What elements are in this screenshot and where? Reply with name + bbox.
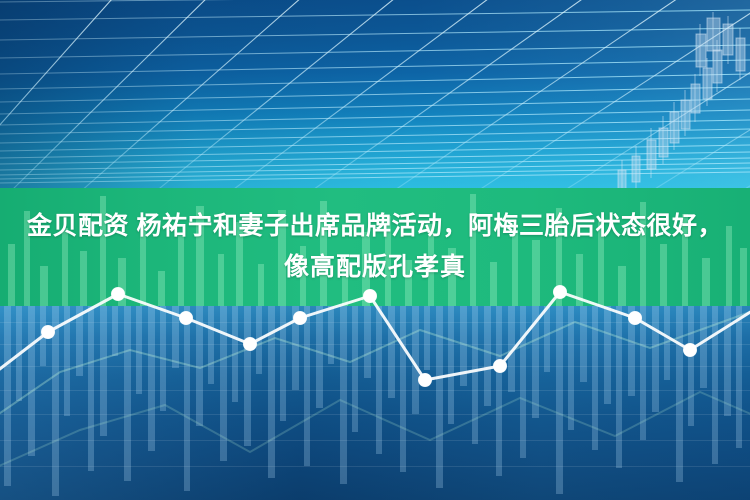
headline-line-1: 金贝配资 杨祐宁和妻子出席品牌活动，阿梅三胎后状态很好， bbox=[27, 206, 723, 247]
financial-banner-image: 金贝配资 杨祐宁和妻子出席品牌活动，阿梅三胎后状态很好， 像高配版孔孝真 bbox=[0, 0, 750, 500]
headline-line-2: 像高配版孔孝真 bbox=[284, 247, 466, 288]
headline-caption: 金贝配资 杨祐宁和妻子出席品牌活动，阿梅三胎后状态很好， 像高配版孔孝真 bbox=[0, 188, 750, 306]
